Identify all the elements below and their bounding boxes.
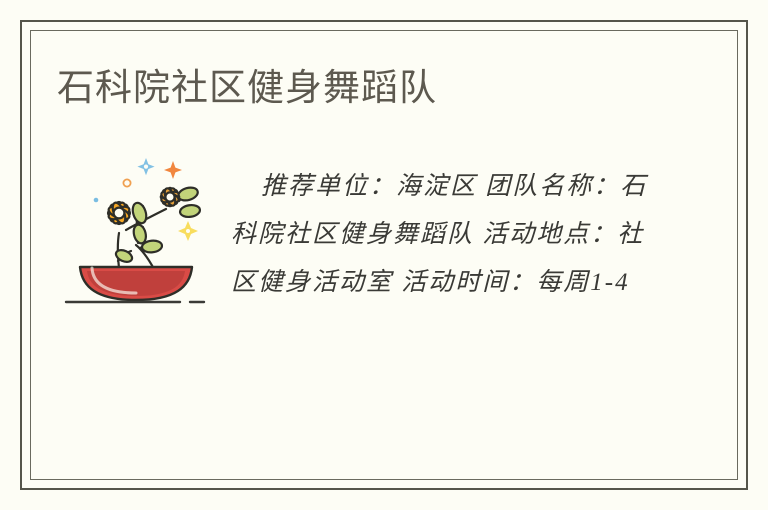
- poster-page: 石科院社区健身舞蹈队: [0, 0, 768, 510]
- flower-right: [160, 187, 180, 207]
- sparkle-orange-icon: [164, 161, 182, 179]
- sparkle-dot-blue-icon: [94, 198, 99, 203]
- page-title: 石科院社区健身舞蹈队: [57, 66, 437, 110]
- flower-pot: [80, 267, 192, 300]
- leaf-group-lower: [114, 223, 162, 264]
- sparkle-ring-orange-icon: [123, 179, 130, 186]
- flower-left: [107, 201, 131, 225]
- team-details-text: 推荐单位：海淀区 团队名称：石科院社区健身舞蹈队 活动地点：社区健身活动室 活动…: [231, 163, 651, 307]
- potted-flowers-illustration: [62, 138, 222, 310]
